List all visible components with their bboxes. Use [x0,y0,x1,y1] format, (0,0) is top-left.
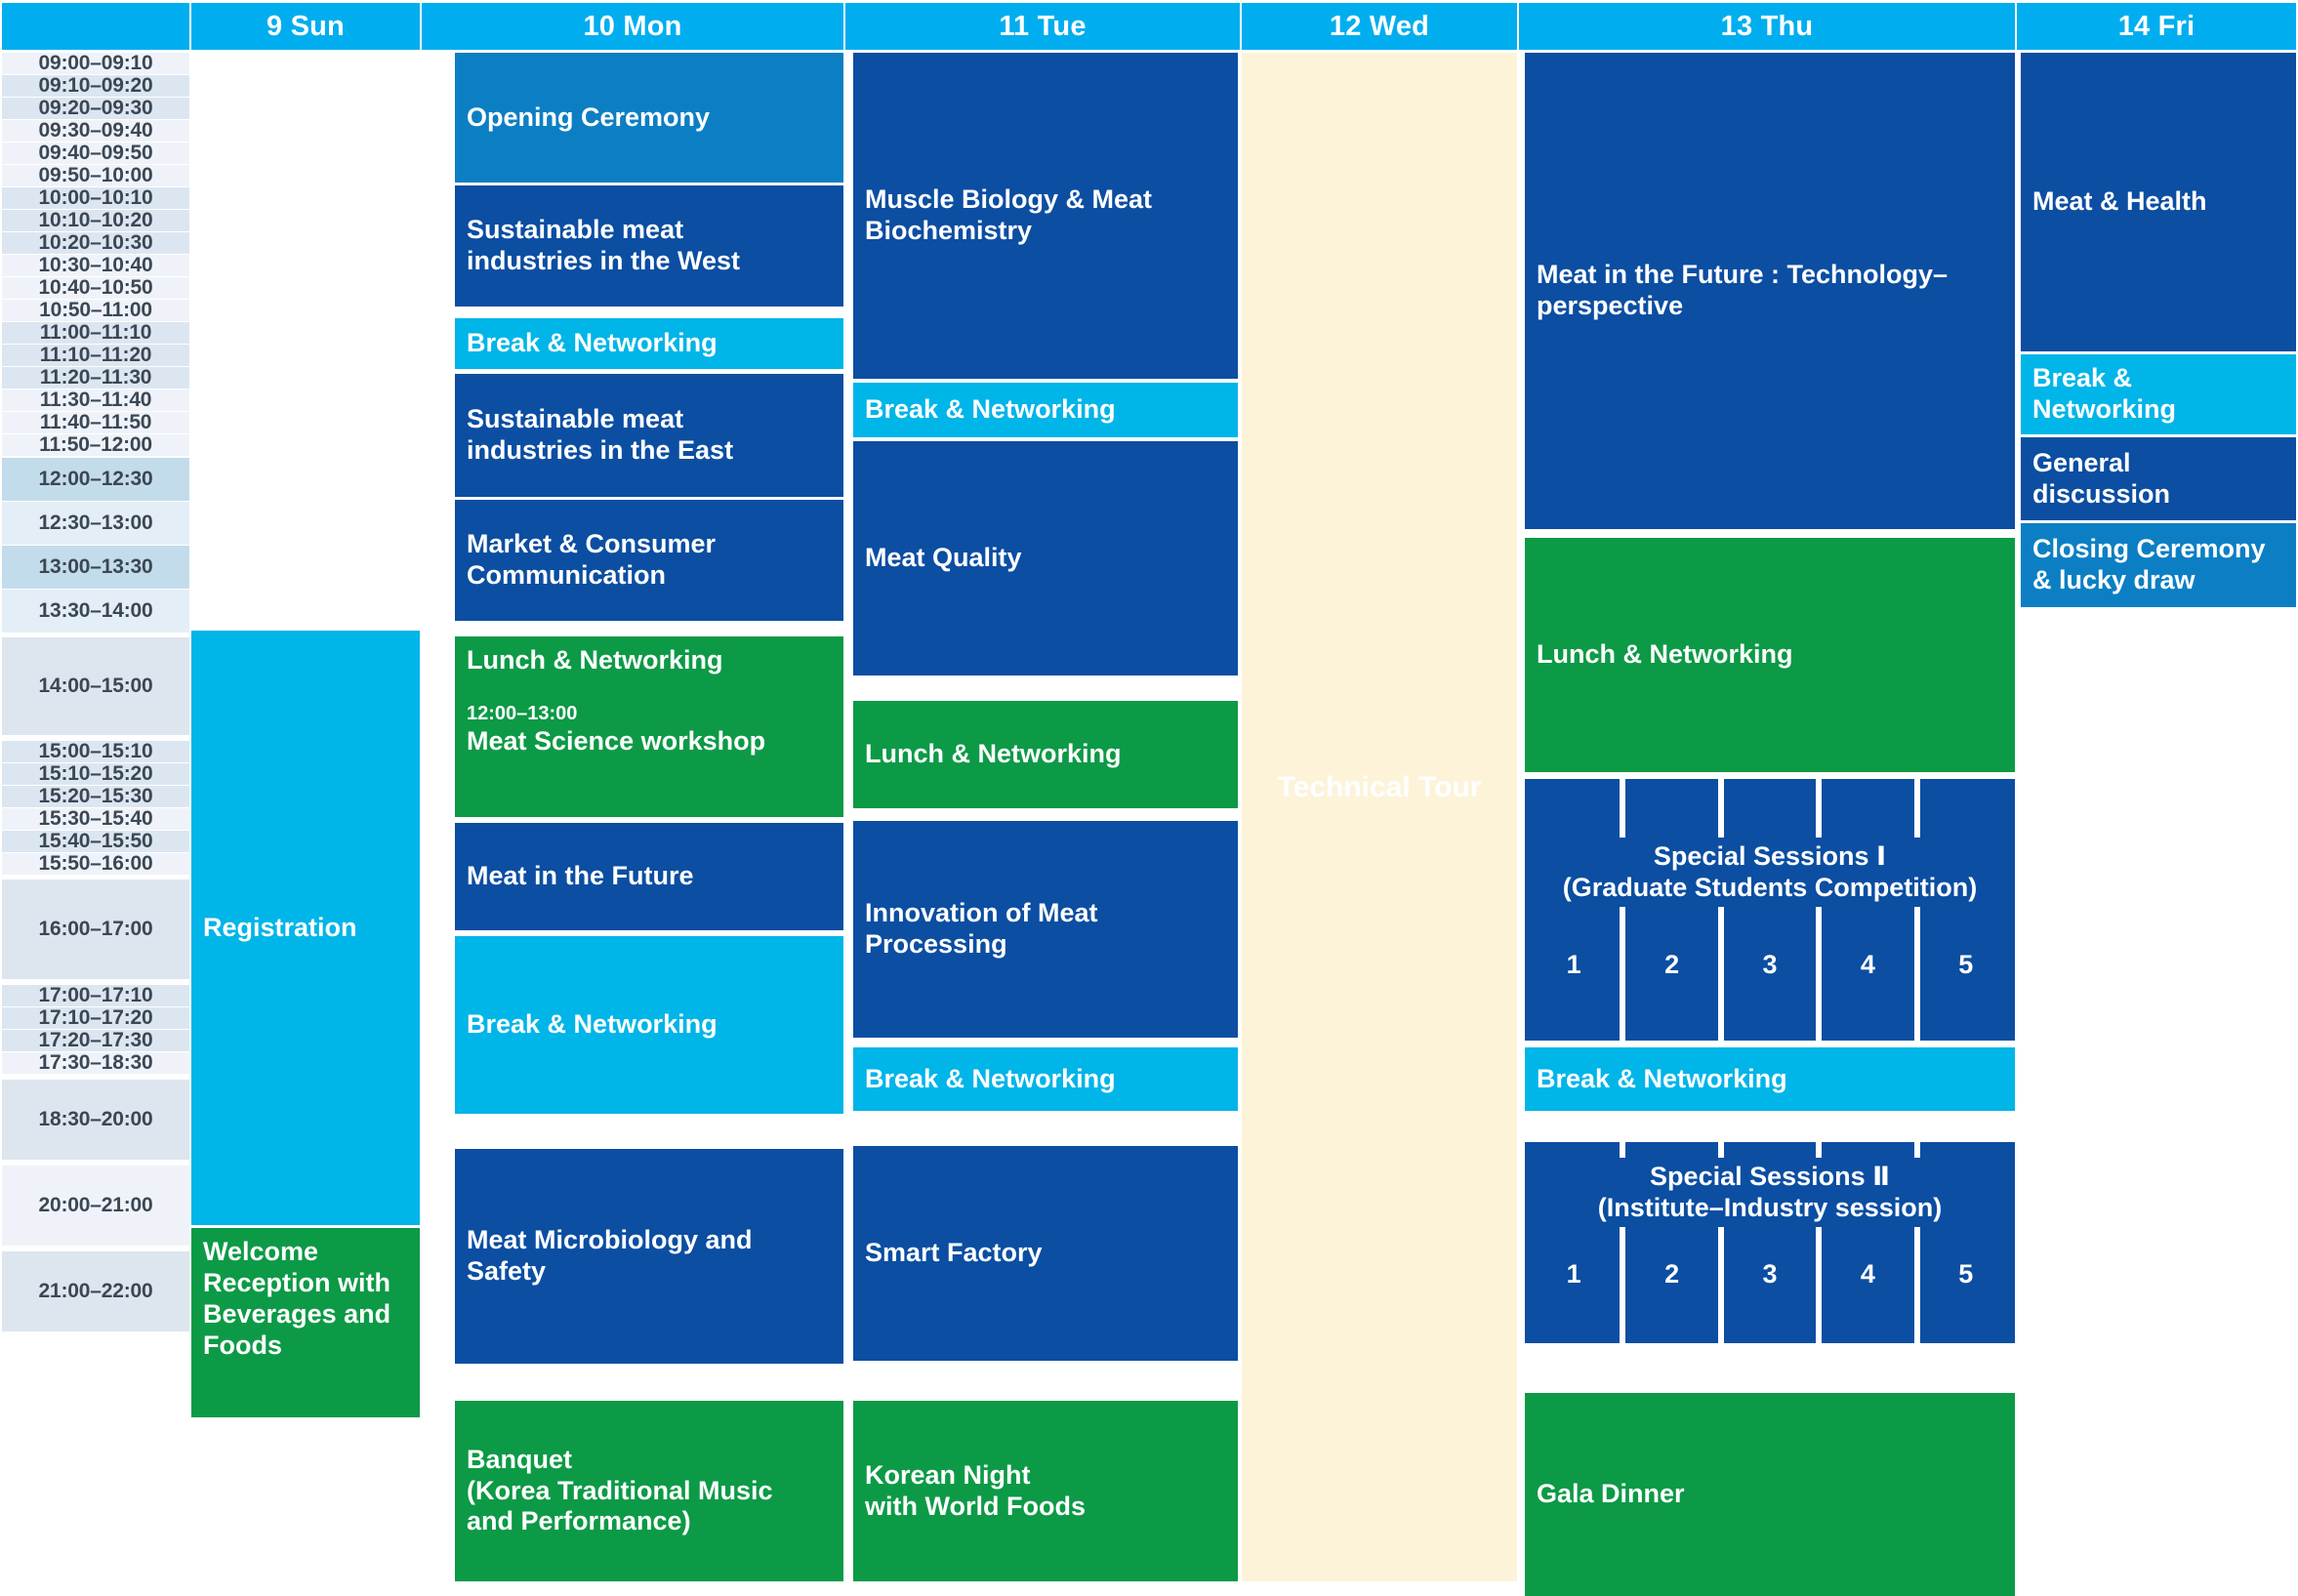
time-slot: 13:00–13:30 [2,546,189,589]
time-slot: 10:40–10:50 [2,277,189,299]
session-title: Sustainable meatindustries in the West [467,215,832,277]
time-slot: 15:50–16:00 [2,853,189,875]
time-slot: 09:30–09:40 [2,120,189,142]
time-slot-label: 10:00–10:10 [39,186,153,210]
day-header-label: 13 Thu [1721,13,1814,41]
time-slot: 15:00–15:10 [2,741,189,762]
session-title: Smart Factory [865,1238,1226,1269]
session-block[interactable]: Korean Nightwith World Foods [853,1401,1238,1581]
time-slot-label: 12:00–12:30 [39,468,153,491]
day-header-label: 12 Wed [1330,13,1429,41]
session-block[interactable]: WelcomeReception withBeverages andFoods [191,1228,420,1417]
time-slot: 10:20–10:30 [2,232,189,254]
time-slot: 10:30–10:40 [2,255,189,276]
time-slot-label: 10:50–11:00 [39,299,152,322]
session-title: Muscle Biology & MeatBiochemistry [865,184,1226,247]
session-title: Break &Networking [2032,363,2284,426]
special-session-block[interactable]: Special Sessions Ⅱ(Institute–Industry se… [1525,1142,2015,1343]
session-block[interactable]: Meat & Health [2021,53,2296,351]
time-slot-label: 09:30–09:40 [39,119,153,143]
time-slot: 17:30–18:30 [2,1052,189,1074]
special-session-number[interactable]: 3 [1721,1259,1819,1289]
time-slot-label: 11:20–11:30 [40,366,152,389]
session-title: Korean Nightwith World Foods [865,1460,1226,1523]
session-title: Lunch & Networking [1537,639,2003,671]
time-slot-label: 11:30–11:40 [40,389,152,412]
special-session-divider [1718,779,1724,1041]
time-slot-label: 17:20–17:30 [39,1029,153,1052]
time-slot-label: 21:00–22:00 [39,1280,153,1303]
session-title: Break & Networking [467,1009,832,1041]
time-slot-label: 16:00–17:00 [39,918,153,941]
session-title: Registration [203,913,408,944]
session-spacer [467,676,832,702]
time-slot: 11:20–11:30 [2,367,189,389]
special-session-number[interactable]: 2 [1622,950,1720,980]
special-session-number[interactable]: 4 [1819,950,1916,980]
session-title: Closing Ceremony& lucky draw [2032,534,2284,596]
day-header-label: 11 Tue [999,13,1086,41]
time-slot-label: 15:30–15:40 [39,807,153,831]
time-slot-label: 10:10–10:20 [39,209,153,232]
time-slot-label: 10:40–10:50 [39,276,153,300]
session-block[interactable]: Smart Factory [853,1146,1238,1361]
time-slot-label: 17:30–18:30 [39,1051,153,1075]
day-header-12-wed[interactable]: 12 Wed [1242,3,1517,50]
day-header-label: 10 Mon [583,13,681,41]
time-slot: 09:00–09:10 [2,53,189,74]
time-slot: 09:10–09:20 [2,75,189,97]
session-block[interactable]: Banquet(Korea Traditional Musicand Perfo… [455,1401,843,1581]
time-slot-label: 15:50–16:00 [39,852,153,876]
time-slot-label: 14:00–15:00 [39,675,153,698]
session-title: Market & ConsumerCommunication [467,529,832,592]
special-session-title: Special Sessions Ⅱ(Institute–Industry se… [1525,1158,2015,1227]
session-block[interactable]: Break & Networking [853,383,1238,437]
time-slot-label: 13:00–13:30 [39,555,153,579]
time-slot: 18:30–20:00 [2,1080,189,1160]
special-session-number[interactable]: 1 [1525,1259,1622,1289]
time-slot: 10:00–10:10 [2,187,189,209]
session-title: Meat Quality [865,543,1226,574]
time-slot-label: 09:20–09:30 [39,97,153,120]
session-block[interactable]: Meat in the Future [455,823,843,930]
day-header-10-mon[interactable]: 10 Mon [422,3,843,50]
session-block[interactable]: Break & Networking [853,1047,1238,1111]
time-slot: 12:00–12:30 [2,458,189,501]
session-block[interactable]: Break &Networking [2021,354,2296,434]
session-title: Meat in the Future : Technology–perspect… [1537,260,2003,322]
special-session-number[interactable]: 3 [1721,950,1819,980]
session-title: Sustainable meatindustries in the East [467,404,832,467]
time-slot: 17:20–17:30 [2,1030,189,1051]
session-title: Lunch & Networking [467,645,832,676]
session-title: Break & Networking [865,394,1226,426]
special-session-divider [1620,779,1625,1041]
session-title: Meat & Health [2032,186,2284,218]
time-slot-label: 11:50–12:00 [39,433,152,457]
time-slot: 17:10–17:20 [2,1007,189,1029]
time-slot: 11:40–11:50 [2,412,189,433]
time-slot: 15:10–15:20 [2,763,189,785]
session-block[interactable]: Lunch & Networking [853,701,1238,808]
technical-tour-label: Technical Tour [1242,771,1517,804]
session-block[interactable]: Sustainable meatindustries in the East [455,374,843,497]
session-block[interactable]: Market & ConsumerCommunication [455,500,843,621]
time-slot-label: 17:10–17:20 [39,1006,153,1030]
session-block[interactable]: Lunch & Networking [1525,538,2015,772]
time-slot-label: 11:40–11:50 [40,411,152,434]
technical-tour-band[interactable]: Technical Tour [1242,53,1517,1581]
day-header-9-sun[interactable]: 9 Sun [191,3,420,50]
session-title: Meat Microbiology andSafety [467,1225,832,1288]
time-slot-label: 09:50–10:00 [39,164,153,187]
session-block[interactable]: Meat in the Future : Technology–perspect… [1525,53,2015,529]
time-slot: 14:00–15:00 [2,637,189,735]
session-title: Break & Networking [1537,1064,2003,1095]
session-block[interactable]: Break & Networking [1525,1047,2015,1111]
time-slot: 15:30–15:40 [2,808,189,830]
time-slot: 21:00–22:00 [2,1251,189,1331]
time-slot: 17:00–17:10 [2,985,189,1006]
time-slot: 11:50–12:00 [2,434,189,456]
session-block[interactable]: Meat Quality [853,441,1238,675]
time-slot: 11:00–11:10 [2,322,189,344]
session-block[interactable]: Break & Networking [455,936,843,1114]
time-slot: 11:30–11:40 [2,389,189,411]
session-title: Lunch & Networking [865,739,1226,770]
day-header-11-tue[interactable]: 11 Tue [845,3,1240,50]
day-header-label: 9 Sun [267,13,345,41]
time-slot-label: 10:20–10:30 [39,231,153,255]
session-block[interactable]: Meat Microbiology andSafety [455,1149,843,1364]
time-slot: 16:00–17:00 [2,880,189,979]
time-slot: 15:20–15:30 [2,786,189,807]
special-session-block[interactable]: Special Sessions Ⅰ(Graduate Students Com… [1525,779,2015,1041]
session-block[interactable]: Innovation of MeatProcessing [853,821,1238,1038]
session-block[interactable]: Registration [191,631,420,1225]
session-title: Banquet(Korea Traditional Musicand Perfo… [467,1445,832,1538]
time-slot: 20:00–21:00 [2,1166,189,1246]
time-slot: 12:30–13:00 [2,502,189,545]
session-block[interactable]: Opening Ceremony [455,53,843,183]
time-slot-label: 15:40–15:50 [39,830,153,853]
special-session-number[interactable]: 1 [1525,950,1622,980]
time-slot-label: 10:30–10:40 [39,254,153,277]
time-slot-label: 20:00–21:00 [39,1194,153,1217]
session-title: Opening Ceremony [467,102,832,134]
time-slot: 10:50–11:00 [2,300,189,321]
session-block[interactable]: Break & Networking [455,318,843,369]
special-session-number[interactable]: 5 [1917,950,2015,980]
session-title: Break & Networking [865,1064,1226,1095]
time-slot-label: 15:20–15:30 [39,785,153,808]
time-slot-label: 17:00–17:10 [39,984,153,1007]
session-title: Break & Networking [467,328,832,359]
time-slot: 11:10–11:20 [2,345,189,366]
time-column-header [2,3,189,50]
special-session-divider [1914,779,1920,1041]
time-slot-label: 15:10–15:20 [39,762,153,786]
special-session-divider [1816,779,1822,1041]
time-slot: 09:20–09:30 [2,98,189,119]
time-slot-label: 09:10–09:20 [39,74,153,98]
special-session-number[interactable]: 4 [1819,1259,1916,1289]
time-slot: 13:30–14:00 [2,590,189,633]
time-slot-label: 15:00–15:10 [39,740,153,763]
session-block[interactable]: Muscle Biology & MeatBiochemistry [853,53,1238,379]
session-sub-title: Meat Science workshop [467,726,832,757]
day-header-14-fri[interactable]: 14 Fri [2017,3,2296,50]
time-slot: 10:10–10:20 [2,210,189,231]
session-block[interactable]: Closing Ceremony& lucky draw [2021,523,2296,607]
session-title: WelcomeReception withBeverages andFoods [203,1237,408,1361]
time-slot-label: 09:00–09:10 [39,52,153,75]
time-slot-label: 12:30–13:00 [39,512,153,535]
time-slot-label: 11:00–11:10 [40,321,152,345]
time-slot-label: 18:30–20:00 [39,1108,153,1131]
session-block[interactable]: Generaldiscussion [2021,437,2296,520]
time-slot: 09:40–09:50 [2,143,189,164]
time-slot-label: 11:10–11:20 [40,344,152,367]
time-slot: 09:50–10:00 [2,165,189,186]
day-header-label: 14 Fri [2118,13,2195,41]
session-title: Generaldiscussion [2032,448,2284,511]
conference-schedule-grid: Technical Tour 9 Sun10 Mon11 Tue12 Wed13… [0,0,2298,1596]
session-title: Meat in the Future [467,861,832,892]
session-block[interactable]: Gala Dinner [1525,1393,2015,1596]
session-title: Gala Dinner [1537,1479,2003,1510]
session-sub-time: 12:00–13:00 [467,702,832,725]
time-slot: 15:40–15:50 [2,831,189,852]
session-block[interactable]: Sustainable meatindustries in the West [455,185,843,307]
special-session-number[interactable]: 2 [1622,1259,1720,1289]
time-slot-label: 09:40–09:50 [39,142,153,165]
session-title: Innovation of MeatProcessing [865,898,1226,961]
special-session-number[interactable]: 5 [1917,1259,2015,1289]
day-header-13-thu[interactable]: 13 Thu [1519,3,2015,50]
special-session-title: Special Sessions Ⅰ(Graduate Students Com… [1525,838,2015,907]
session-block[interactable]: Lunch & Networking12:00–13:00Meat Scienc… [455,636,843,817]
time-slot-label: 13:30–14:00 [39,599,153,623]
